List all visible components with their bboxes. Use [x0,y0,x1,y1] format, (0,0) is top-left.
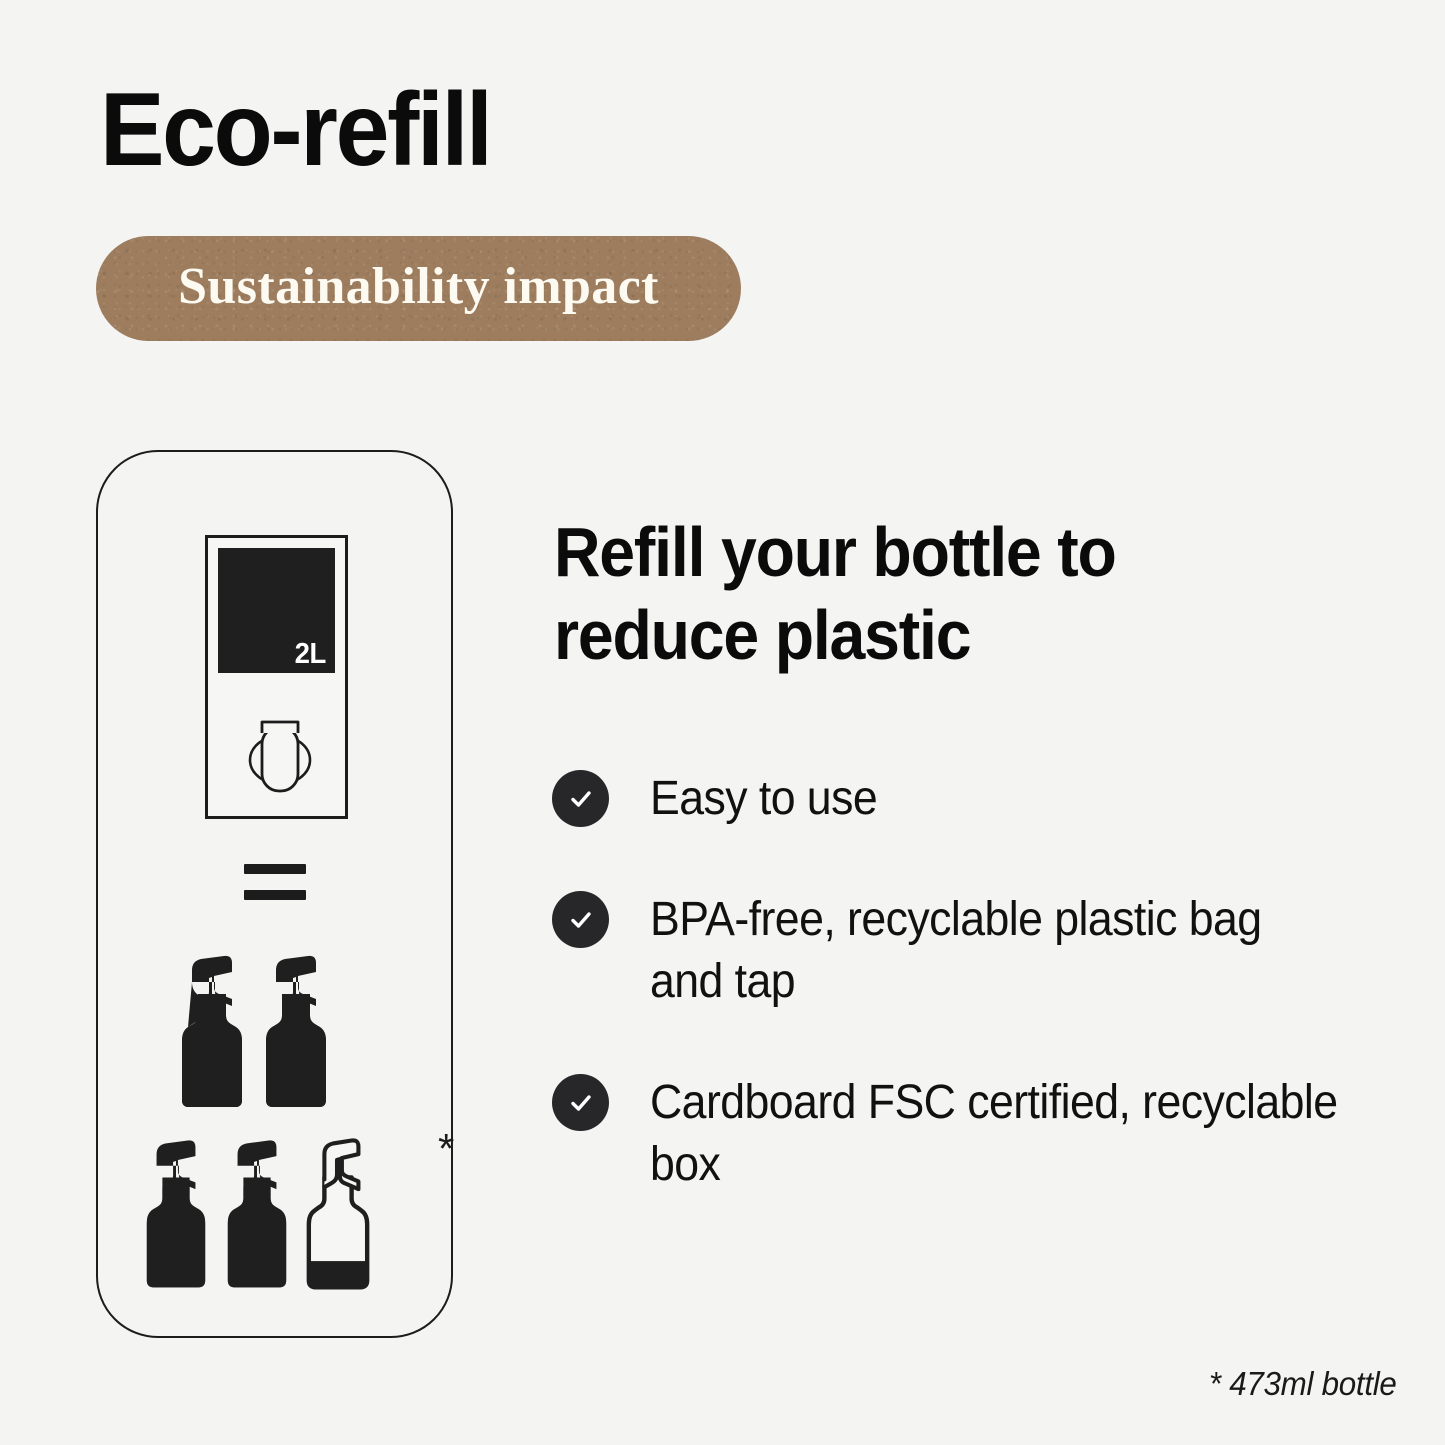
list-item: BPA-free, recyclable plastic bag and tap [552,889,1392,1012]
feature-list: Easy to use BPA-free, recyclable plastic… [552,768,1392,1195]
bottle-row-three [141,1130,373,1293]
footnote: * 473ml bottle [1209,1365,1397,1403]
spray-bottle-outline-icon [303,1130,373,1293]
asterisk-marker: * [438,1128,454,1170]
list-item: Easy to use [552,768,1392,829]
feature-text: Easy to use [650,768,1340,829]
refill-box-label-panel: 2L [218,548,335,673]
refill-illustration-card: 2L [96,450,453,1338]
refill-box-illustration: 2L [205,535,348,819]
feature-text: Cardboard FSC certified, recyclable box [650,1072,1340,1195]
sustainability-impact-badge: Sustainability impact [96,236,741,341]
spray-bottle-filled-icon [260,946,332,1112]
page-title: Eco-refill [100,78,491,182]
list-item: Cardboard FSC certified, recyclable box [552,1072,1392,1195]
spray-bottle-filled-icon [176,946,248,1112]
feature-text: BPA-free, recyclable plastic bag and tap [650,889,1340,1012]
eco-refill-infographic: Eco-refill Sustainability impact 2L [0,0,1445,1445]
equals-sign-icon [244,864,306,900]
check-circle-icon [552,770,609,827]
tap-spigot-icon [240,703,320,795]
refill-volume-label: 2L [295,640,326,669]
spray-bottle-filled-icon [141,1130,211,1293]
bottle-row-two [176,946,332,1112]
check-circle-icon [552,891,609,948]
check-circle-icon [552,1074,609,1131]
headline: Refill your bottle to reduce plastic [554,511,1253,676]
badge-label: Sustainability impact [178,261,659,313]
spray-bottle-filled-icon [222,1130,292,1293]
